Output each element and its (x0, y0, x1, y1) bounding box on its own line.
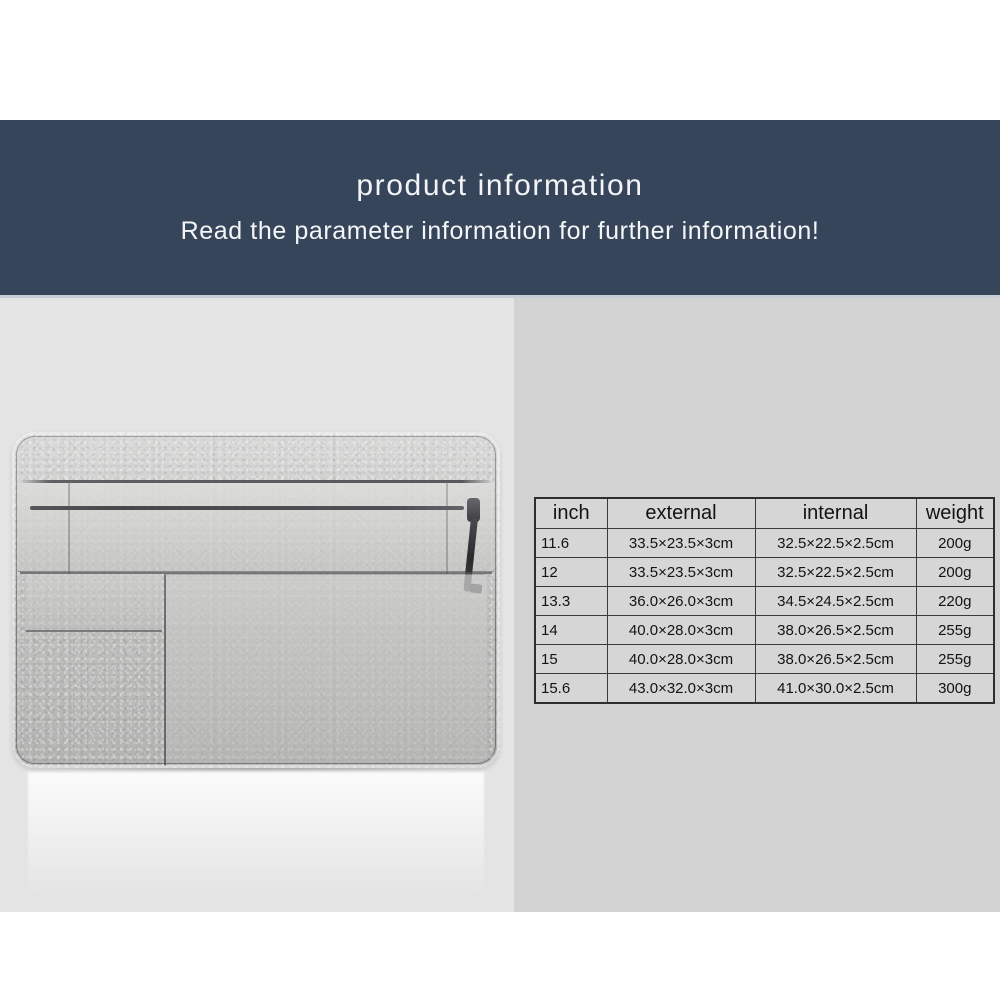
cell-weight: 200g (916, 558, 994, 587)
cell-inch: 14 (535, 616, 607, 645)
cell-weight: 255g (916, 645, 994, 674)
table-row: 12 33.5×23.5×3cm 32.5×22.5×2.5cm 200g (535, 558, 994, 587)
cell-weight: 200g (916, 529, 994, 558)
product-image-panel (0, 298, 514, 912)
product-information-page: product information Read the parameter i… (0, 0, 1000, 1000)
page-subtitle: Read the parameter information for furth… (181, 218, 820, 246)
header-banner: product information Read the parameter i… (0, 120, 1000, 295)
cell-inch: 12 (535, 558, 607, 587)
cell-internal: 38.0×26.5×2.5cm (755, 645, 916, 674)
cell-external: 43.0×32.0×3cm (607, 674, 755, 704)
cell-external: 40.0×28.0×3cm (607, 616, 755, 645)
cell-inch: 11.6 (535, 529, 607, 558)
cell-external: 36.0×26.0×3cm (607, 587, 755, 616)
table-row: 15 40.0×28.0×3cm 38.0×26.5×2.5cm 255g (535, 645, 994, 674)
cell-external: 33.5×23.5×3cm (607, 558, 755, 587)
table-row: 15.6 43.0×32.0×3cm 41.0×30.0×2.5cm 300g (535, 674, 994, 704)
cell-internal: 32.5×22.5×2.5cm (755, 529, 916, 558)
cell-inch: 15 (535, 645, 607, 674)
column-header-external: external (607, 498, 755, 529)
product-photo-stage (0, 298, 514, 912)
cell-external: 40.0×28.0×3cm (607, 645, 755, 674)
cell-weight: 255g (916, 616, 994, 645)
column-header-internal: internal (755, 498, 916, 529)
cell-weight: 300g (916, 674, 994, 704)
laptop-sleeve-bag-image (12, 432, 500, 768)
column-header-weight: weight (916, 498, 994, 529)
specification-table: inch external internal weight 11.6 33.5×… (534, 497, 995, 704)
cell-inch: 15.6 (535, 674, 607, 704)
table-header-row: inch external internal weight (535, 498, 994, 529)
bag-reflection (28, 772, 484, 902)
spec-table-panel: inch external internal weight 11.6 33.5×… (514, 298, 1000, 912)
table-row: 13.3 36.0×26.0×3cm 34.5×24.5×2.5cm 220g (535, 587, 994, 616)
cell-external: 33.5×23.5×3cm (607, 529, 755, 558)
cell-weight: 220g (916, 587, 994, 616)
cell-internal: 38.0×26.5×2.5cm (755, 616, 916, 645)
table-row: 11.6 33.5×23.5×3cm 32.5×22.5×2.5cm 200g (535, 529, 994, 558)
cell-internal: 32.5×22.5×2.5cm (755, 558, 916, 587)
column-header-inch: inch (535, 498, 607, 529)
spec-table-wrapper: inch external internal weight 11.6 33.5×… (534, 497, 993, 704)
table-row: 14 40.0×28.0×3cm 38.0×26.5×2.5cm 255g (535, 616, 994, 645)
bag-outer-piping (12, 432, 500, 768)
cell-inch: 13.3 (535, 587, 607, 616)
cell-internal: 41.0×30.0×2.5cm (755, 674, 916, 704)
cell-internal: 34.5×24.5×2.5cm (755, 587, 916, 616)
page-title: product information (356, 169, 643, 202)
